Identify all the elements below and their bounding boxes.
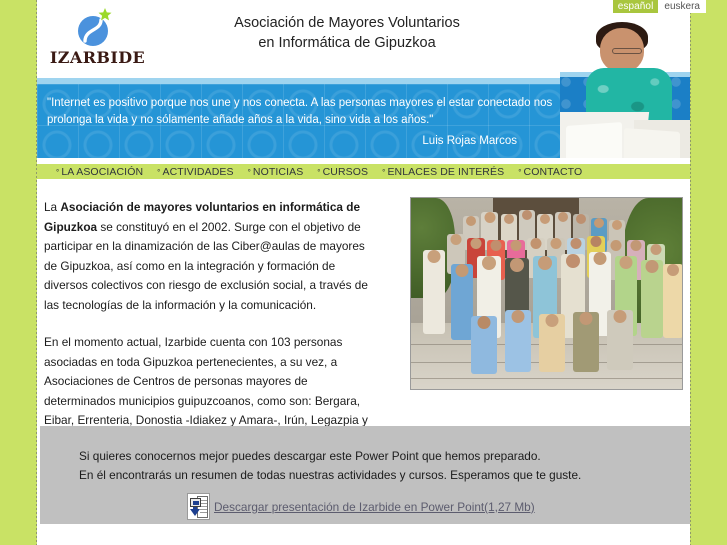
download-panel: Si quieres conocernos mejor puedes desca…: [40, 426, 690, 524]
globe-star-logo-icon: [75, 6, 115, 48]
language-option-basque[interactable]: euskera: [658, 0, 706, 13]
quote-author: Luis Rojas Marcos: [47, 135, 517, 147]
nav-item-label: LA ASOCIACIÓN: [61, 166, 143, 178]
nav-item-label: CONTACTO: [524, 166, 583, 178]
nav-bullet-icon: °: [157, 168, 160, 177]
nav-bullet-icon: °: [317, 168, 320, 177]
download-powerpoint-link[interactable]: Descargar presentación de Izarbide en Po…: [214, 500, 535, 514]
nav-item-noticias[interactable]: ° NOTICIAS: [246, 166, 306, 178]
main-navigation[interactable]: ° LA ASOCIACIÓN ° ACTIVIDADES ° NOTICIAS…: [37, 164, 690, 179]
logo[interactable]: IZARBIDE: [45, 6, 150, 72]
main-content: La Asociación de mayores voluntarios en …: [37, 179, 690, 545]
download-text-line2: En él encontrarás un resumen de todas nu…: [79, 468, 581, 482]
download-document-icon[interactable]: [187, 493, 210, 520]
language-option-spanish[interactable]: español: [613, 0, 659, 13]
woman-at-computer-photo: [560, 20, 690, 158]
page-title: Asociación de Mayores Voluntarios en Inf…: [147, 13, 547, 53]
language-switcher[interactable]: español euskera: [613, 0, 706, 13]
right-margin-rule: [690, 0, 691, 545]
page-title-line1: Asociación de Mayores Voluntarios: [147, 13, 547, 33]
nav-bullet-icon: °: [248, 168, 251, 177]
nav-item-enlaces-de-interes[interactable]: ° ENLACES DE INTERÉS: [380, 166, 506, 178]
nav-bullet-icon: °: [382, 168, 385, 177]
download-row[interactable]: Descargar presentación de Izarbide en Po…: [187, 493, 535, 520]
nav-item-contacto[interactable]: ° CONTACTO: [516, 166, 584, 178]
download-text-line1: Si quieres conocernos mejor puedes desca…: [79, 449, 541, 463]
logo-wordmark: IZARBIDE: [45, 48, 150, 67]
nav-item-label: ENLACES DE INTERÉS: [387, 166, 504, 178]
izarbide-group-photo: [410, 197, 683, 390]
page-title-line2: en Informática de Gipuzkoa: [147, 33, 547, 53]
nav-item-actividades[interactable]: ° ACTIVIDADES: [155, 166, 235, 178]
nav-item-la-asociacion[interactable]: ° LA ASOCIACIÓN: [54, 166, 145, 178]
intro-p1-part-a: La: [44, 200, 60, 214]
page-root: IZARBIDE Asociación de Mayores Voluntari…: [0, 0, 727, 545]
intro-paragraph-1: La Asociación de mayores voluntarios en …: [44, 198, 379, 315]
nav-item-label: CURSOS: [323, 166, 369, 178]
nav-bullet-icon: °: [56, 168, 59, 177]
nav-bullet-icon: °: [518, 168, 521, 177]
nav-item-label: ACTIVIDADES: [162, 166, 233, 178]
nav-item-cursos[interactable]: ° CURSOS: [315, 166, 370, 178]
nav-item-label: NOTICIAS: [253, 166, 303, 178]
quote-text: "Internet es positivo porque nos une y n…: [47, 95, 567, 129]
